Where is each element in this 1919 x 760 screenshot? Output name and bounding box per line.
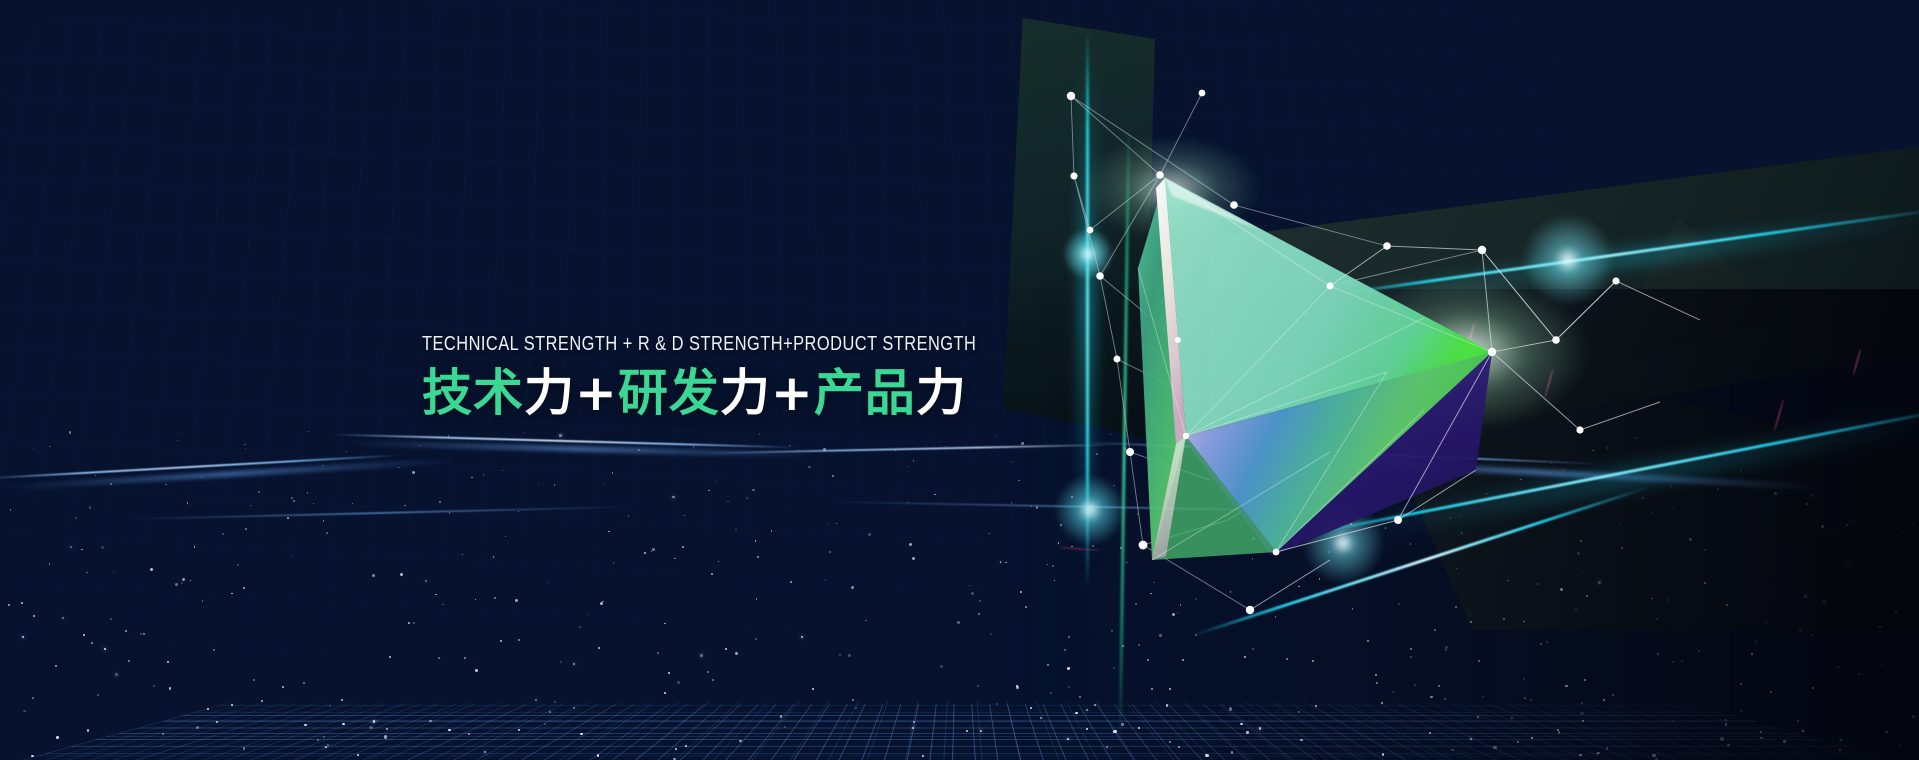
headline-segment-6: 产品 (814, 364, 916, 422)
hero-banner: TECHNICAL STRENGTH + R & D STRENGTH+PROD… (0, 0, 1919, 760)
headline-segment-0: 技术 (422, 364, 524, 422)
headline-segment-5: + (771, 364, 814, 422)
headline-segment-2: + (575, 364, 618, 422)
headline-segment-7: 力 (916, 364, 967, 422)
headline-segment-4: 力 (720, 364, 771, 422)
prism-faces (1138, 178, 1492, 560)
headline-block: TECHNICAL STRENGTH + R & D STRENGTH+PROD… (422, 334, 1115, 420)
headline-segment-3: 研发 (618, 364, 720, 422)
headline-segment-1: 力 (524, 364, 575, 422)
tagline-english: TECHNICAL STRENGTH + R & D STRENGTH+PROD… (422, 334, 976, 355)
headline-chinese: 技术力+研发力+产品力 (422, 366, 1115, 420)
